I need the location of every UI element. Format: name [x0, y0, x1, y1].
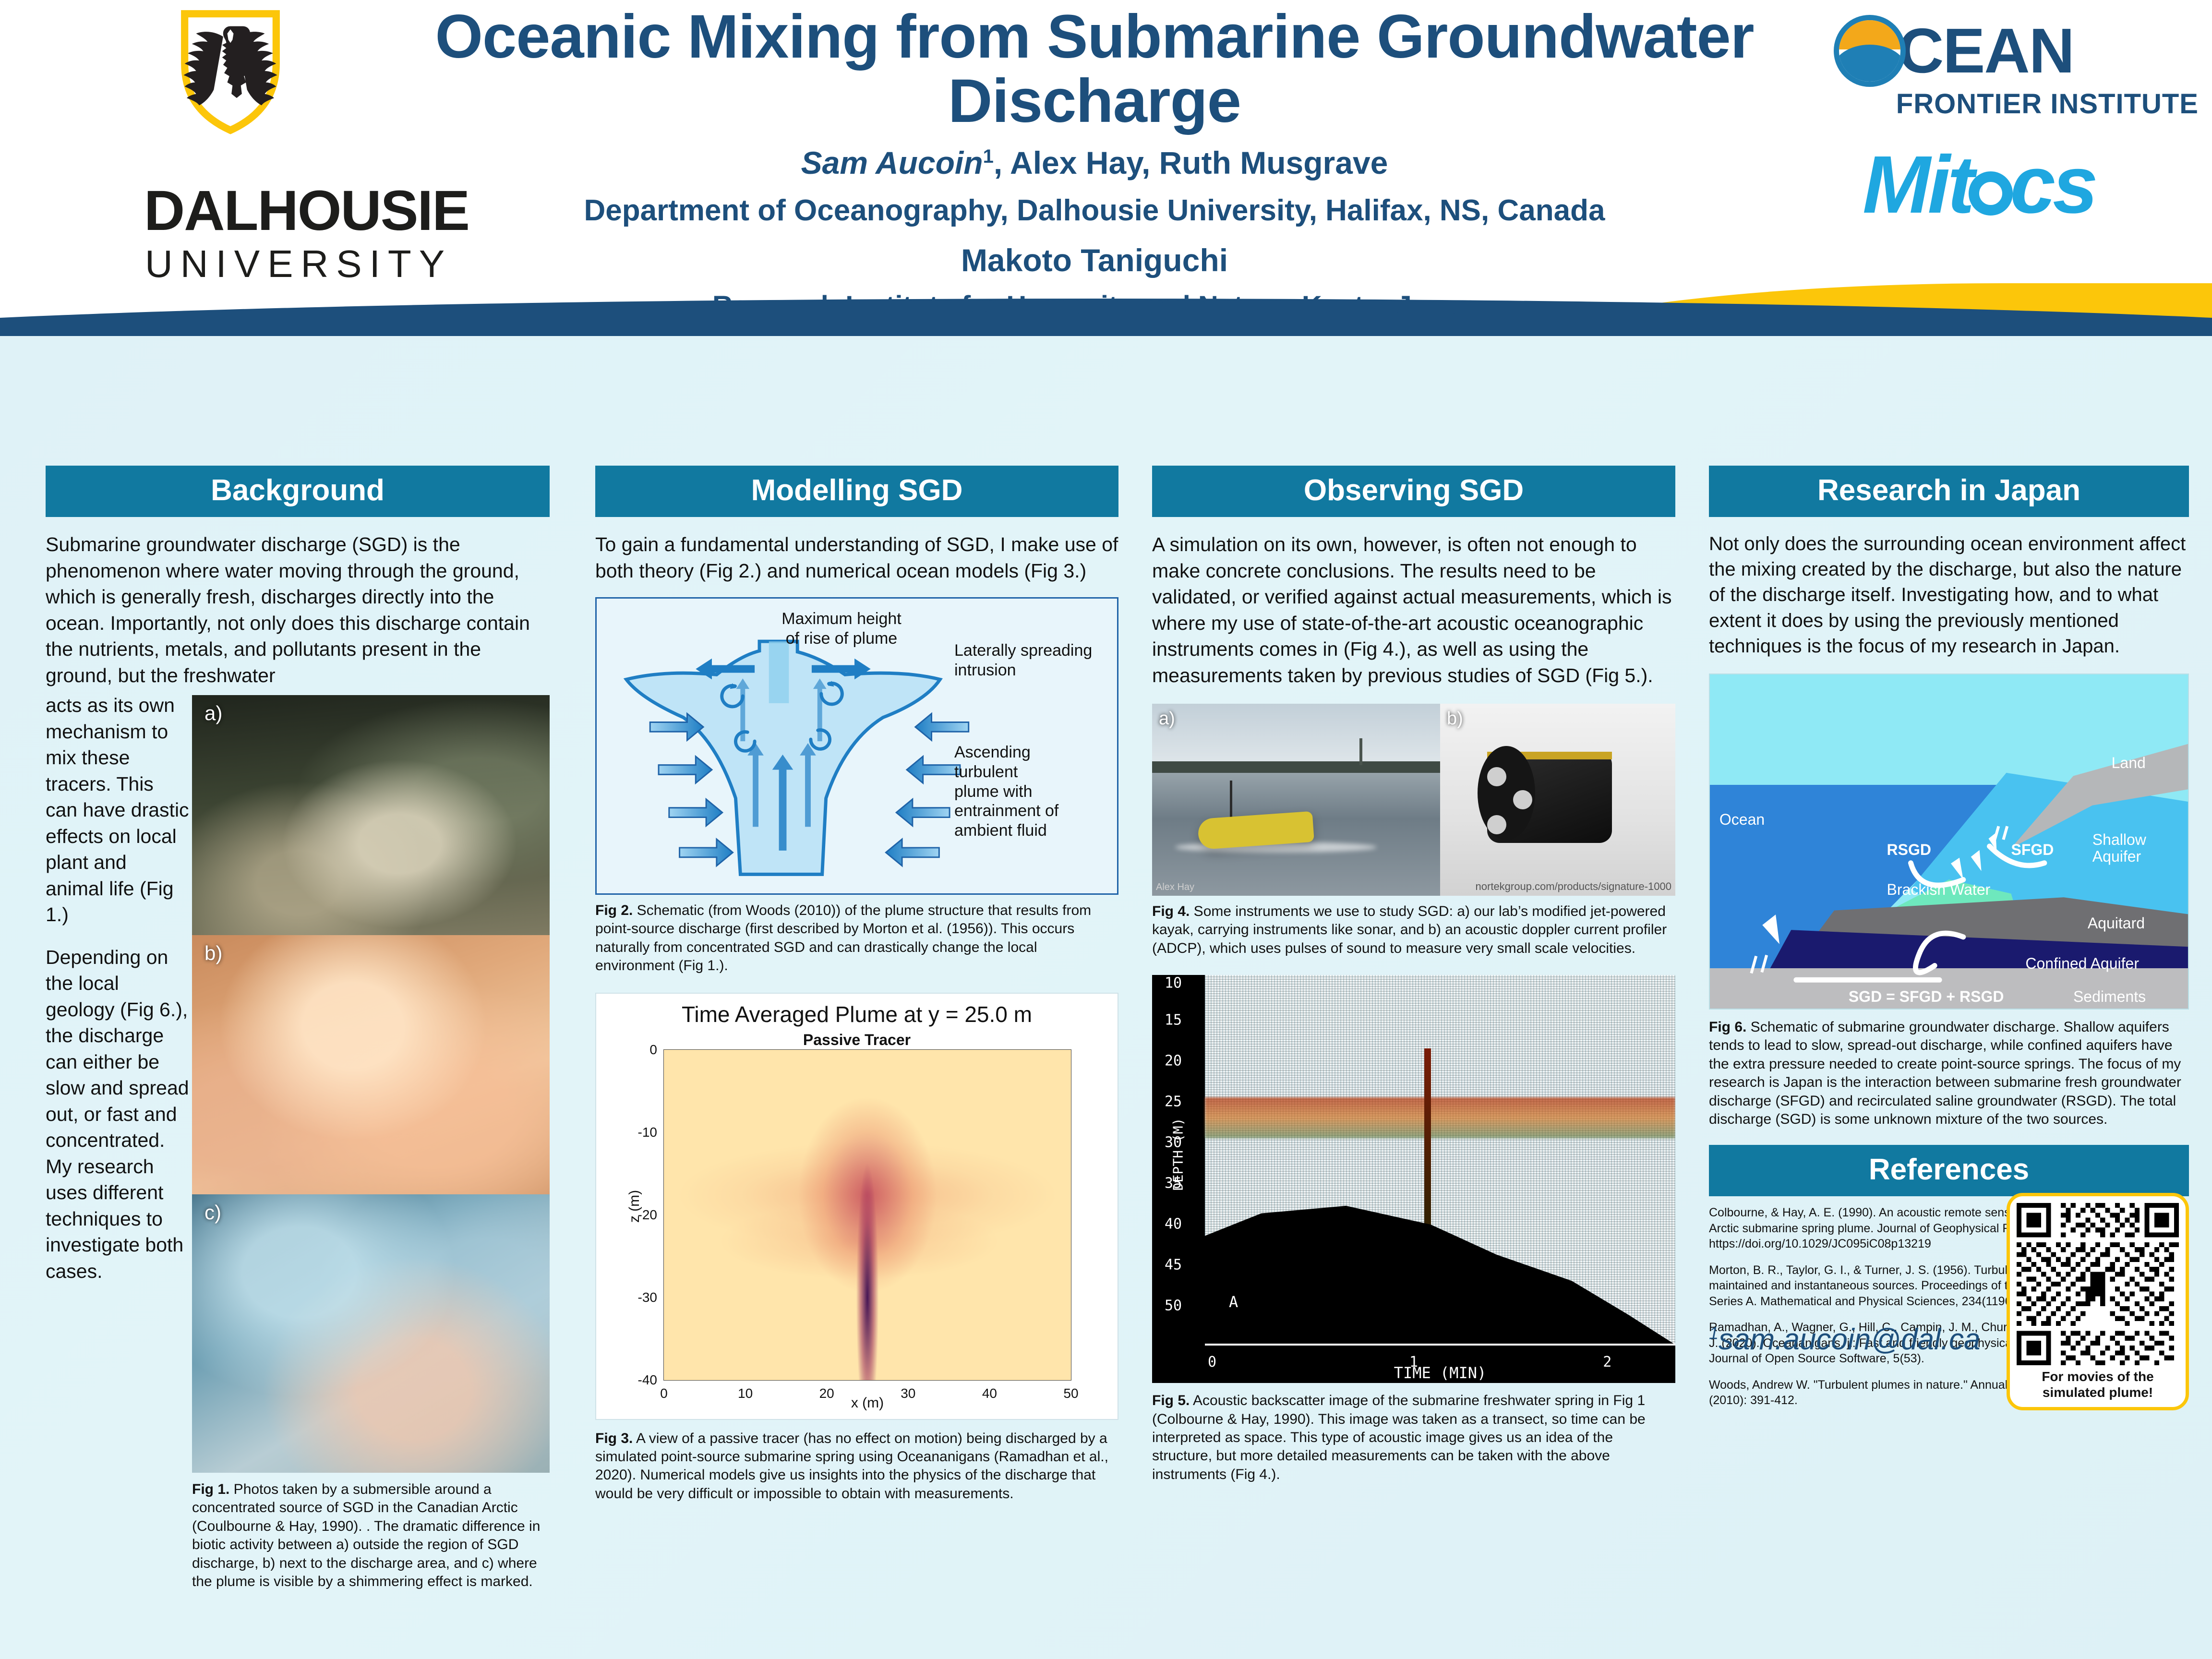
column-research-in-japan: Research in Japan Not only does the surr…	[1709, 466, 2189, 1419]
fig4-photo-adcp: b) nortekgroup.com/products/signature-10…	[1440, 704, 1675, 896]
section-heading-modelling-sgd: Modelling SGD	[595, 466, 1118, 517]
ofi-wave-icon	[1834, 15, 1906, 87]
background-paragraph-3: Depending on the local geology (Fig 6.),…	[46, 944, 190, 1285]
author-line-1: Sam Aucoin1, Alex Hay, Ruth Musgrave	[365, 144, 1824, 181]
first-author-footnote-marker: 1	[983, 146, 994, 167]
figure-3-caption: Fig 3. A view of a passive tracer (has n…	[595, 1430, 1118, 1503]
figure-5-caption-text: Acoustic backscatter image of the submar…	[1152, 1393, 1646, 1482]
contact-email[interactable]: 1sam.aucoin@dal.ca	[1709, 1322, 1980, 1357]
column-observing-sgd: Observing SGD A simulation on its own, h…	[1152, 466, 1675, 1484]
fig3-tracer-field	[664, 1050, 1071, 1380]
fig5-x-axis-label: TIME (MIN)	[1205, 1364, 1675, 1382]
fig1-photo-b: b)	[192, 935, 550, 1194]
background-paragraph-2: acts as its own mechanism to mix these t…	[46, 692, 190, 928]
figure-1-caption-text: Photos taken by a submersible around a c…	[192, 1481, 540, 1589]
first-author-name: Sam Aucoin	[801, 145, 983, 180]
fig1-photo-a-tag: a)	[204, 702, 222, 725]
fig3-x-axis-label: x (m)	[663, 1395, 1071, 1411]
fig4-photo-a-tag: a)	[1159, 709, 1175, 729]
ofi-subtitle: FRONTIER INSTITUTE	[1834, 88, 2199, 120]
figure-2-caption-label: Fig 2.	[595, 902, 633, 918]
fig6-label-sediments: Sediments	[2073, 988, 2146, 1005]
mitacs-logo: Mitcs	[1863, 144, 2199, 226]
fig3-ytick-2: -20	[638, 1207, 657, 1223]
figure-6-sgd-schematic: Land Ocean RSGD SFGD ShallowAquifer Brac…	[1709, 673, 2189, 1010]
figure-6-caption-text: Schematic of submarine groundwater disch…	[1709, 1019, 2181, 1127]
section-heading-research-in-japan: Research in Japan	[1709, 466, 2189, 517]
figure-3-passive-tracer-chart: Time Averaged Plume at y = 25.0 m Passiv…	[595, 993, 1118, 1420]
fig2-label-ascending-plume: Ascendingturbulentplume withentrainment …	[954, 743, 1098, 841]
figure-4-caption: Fig 4. Some instruments we use to study …	[1152, 902, 1675, 958]
section-heading-observing-sgd: Observing SGD	[1152, 466, 1675, 517]
figure-4-instrument-photos: a) Alex Hay b) nortekgroup.com/products/…	[1152, 704, 1675, 896]
fig3-ytick-4: -40	[638, 1372, 657, 1388]
fig5-ytick-4: 30	[1165, 1134, 1182, 1151]
fig1-photo-a: a)	[192, 695, 550, 935]
fig3-ytick-3: -30	[638, 1290, 657, 1305]
contact-email-text: sam.aucoin@dal.ca	[1719, 1323, 1980, 1356]
fig4-photo-a-credit: Alex Hay	[1156, 882, 1194, 893]
fig6-label-ocean: Ocean	[1719, 811, 1765, 828]
fig6-label-brackish-water: Brackish Water	[1887, 881, 1991, 898]
section-heading-background: Background	[46, 466, 550, 517]
coauthor-names: , Alex Hay, Ruth Musgrave	[994, 145, 1388, 180]
figure-1-caption-label: Fig 1.	[192, 1481, 229, 1497]
dalhousie-shield-icon	[168, 10, 293, 134]
figure-5-caption-label: Fig 5.	[1152, 1393, 1190, 1408]
fig3-chart-subtitle: Passive Tracer	[596, 1031, 1118, 1049]
poster-title: Oceanic Mixing from Submarine Groundwate…	[365, 5, 1824, 134]
poster-body: Background Submarine groundwater dischar…	[0, 336, 2212, 1659]
background-paragraph-1: Submarine groundwater discharge (SGD) is…	[46, 531, 550, 688]
fig6-label-sfgd: SFGD	[2011, 842, 2054, 858]
fig6-label-sgd-equation: SGD = SFGD + RSGD	[1849, 988, 2004, 1005]
figure-5-caption: Fig 5. Acoustic backscatter image of the…	[1152, 1392, 1675, 1484]
fig4-photo-b-tag: b)	[1447, 709, 1463, 729]
fig2-label-lateral-intrusion: Laterally spreadingintrusion	[954, 641, 1098, 680]
fig5-ytick-6: 40	[1165, 1215, 1182, 1232]
column-modelling-sgd: Modelling SGD To gain a fundamental unde…	[595, 466, 1118, 1503]
figure-1-photo-stack: a) b) c) Fig 1. Photos taken by a submer…	[192, 695, 550, 1591]
figure-4-caption-label: Fig 4.	[1152, 903, 1190, 919]
fig4-photo-b-credit: nortekgroup.com/products/signature-1000	[1476, 880, 1671, 893]
mitacs-wordmark-left: Mit	[1863, 139, 1972, 230]
section-heading-references: References	[1709, 1145, 2189, 1196]
qr-code-block[interactable]: For movies of thesimulated plume!	[2007, 1193, 2189, 1410]
contact-email-footnote-marker: 1	[1709, 1323, 1719, 1343]
mitacs-ring-icon	[1969, 171, 2013, 216]
contact-block: 1sam.aucoin@dal.ca	[1709, 1257, 2189, 1410]
affiliation-2: Research Institute for Humanity and Natu…	[365, 290, 1824, 322]
mitacs-wordmark-right: cs	[2010, 139, 2095, 230]
fig5-ytick-5: 35	[1165, 1175, 1182, 1191]
figure-6-caption: Fig 6. Schematic of submarine groundwate…	[1709, 1018, 2189, 1129]
modelling-paragraph-1: To gain a fundamental understanding of S…	[595, 531, 1118, 584]
fig4-photo-kayak: a) Alex Hay	[1152, 704, 1440, 896]
figure-4-caption-text: Some instruments we use to study SGD: a)…	[1152, 903, 1667, 956]
fig1-photo-c: c)	[192, 1194, 550, 1473]
fig3-plot-area: 0 -10 -20 -30 -40 0 10 20 30 40 50	[663, 1049, 1071, 1381]
figure-2-plume-schematic: Maximum heightof rise of plume Laterally…	[595, 597, 1118, 895]
figure-1-caption: Fig 1. Photos taken by a submersible aro…	[192, 1480, 550, 1591]
fig1-photo-b-tag: b)	[204, 942, 222, 965]
title-block: Oceanic Mixing from Submarine Groundwate…	[365, 5, 1824, 322]
fig5-ytick-1: 15	[1165, 1011, 1182, 1028]
author-line-2: Makoto Taniguchi	[365, 242, 1824, 278]
figure-2-caption-text: Schematic (from Woods (2010)) of the plu…	[595, 902, 1091, 974]
figure-2-caption: Fig 2. Schematic (from Woods (2010)) of …	[595, 902, 1118, 975]
ofi-wordmark: CEAN	[1898, 14, 2074, 87]
fig3-ytick-1: -10	[638, 1125, 657, 1140]
fig6-label-aquitard: Aquitard	[2088, 915, 2145, 932]
japan-paragraph-1: Not only does the surrounding ocean envi…	[1709, 531, 2189, 659]
fig6-label-confined-aquifer: Confined Aquifer	[2025, 955, 2139, 972]
fig5-ytick-0: 10	[1165, 975, 1182, 992]
affiliation-1: Department of Oceanography, Dalhousie Un…	[365, 193, 1824, 228]
qr-code-caption: For movies of thesimulated plume!	[2017, 1369, 2179, 1400]
fig3-chart-title: Time Averaged Plume at y = 25.0 m	[596, 994, 1118, 1027]
fig6-label-rsgd: RSGD	[1887, 842, 1931, 858]
fig3-ytick-0: 0	[649, 1042, 657, 1058]
fig6-label-land: Land	[2112, 755, 2146, 771]
fig5-x-axis-line	[1205, 1344, 1675, 1346]
observing-paragraph-1: A simulation on its own, however, is oft…	[1152, 531, 1675, 688]
fig5-ytick-8: 50	[1165, 1297, 1182, 1314]
fig5-annotation-a: A	[1229, 1293, 1238, 1311]
figure-6-caption-label: Fig 6.	[1709, 1019, 1746, 1035]
fig5-ytick-7: 45	[1165, 1256, 1182, 1273]
qr-code-icon[interactable]	[2017, 1203, 2179, 1365]
figure-3-caption-label: Fig 3.	[595, 1431, 633, 1446]
fig1-photo-c-tag: c)	[204, 1201, 221, 1224]
figure-3-caption-text: A view of a passive tracer (has no effec…	[595, 1431, 1108, 1502]
column-background: Background Submarine groundwater dischar…	[46, 466, 550, 1284]
fig5-ytick-2: 20	[1165, 1052, 1182, 1069]
figure-5-acoustic-backscatter: DEPTH (M) 10 15 20 25 30 35 40 45 50 0 1…	[1152, 975, 1675, 1383]
fig6-label-shallow-aquifer: ShallowAquifer	[2092, 831, 2146, 865]
poster-header: DALHOUSIE UNIVERSITY Oceanic Mixing from…	[0, 0, 2212, 336]
background-wrapped-text: acts as its own mechanism to mix these t…	[46, 692, 190, 1284]
fig5-scattering-layer	[1205, 1097, 1675, 1138]
ocean-frontier-institute-logo: CEAN FRONTIER INSTITUTE	[1834, 14, 2199, 134]
fig2-label-max-height: Maximum heightof rise of plume	[741, 609, 942, 649]
fig5-ytick-3: 25	[1165, 1093, 1182, 1110]
